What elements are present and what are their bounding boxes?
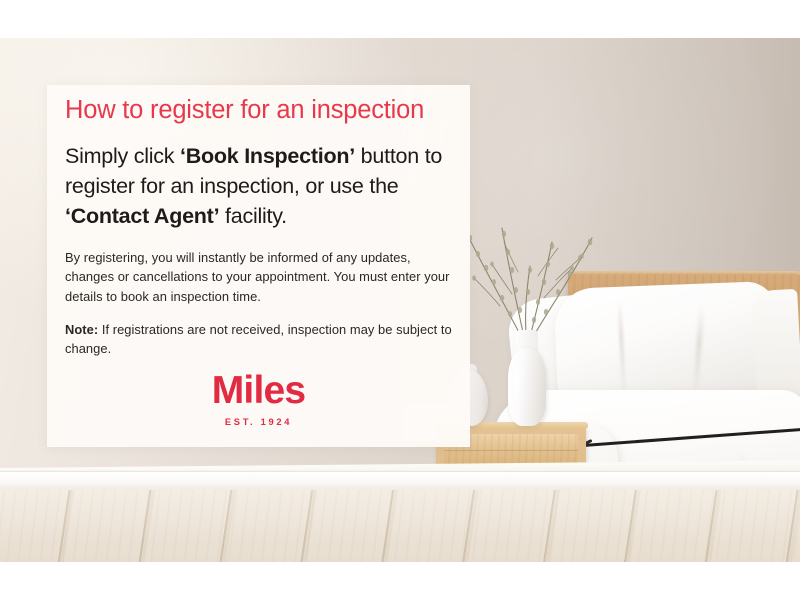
nightstand-drawer-seam [444, 450, 578, 451]
letterbox-top [0, 0, 800, 38]
lede-line1-pre: Simply click [65, 144, 180, 168]
lede-line1-post: button [355, 144, 419, 168]
note-label: Note: [65, 322, 98, 337]
letterbox-bottom [0, 562, 800, 600]
vase-highlight [514, 356, 519, 410]
wood-floor [0, 490, 800, 562]
instructions-lede: Simply click ‘Book Inspection’ button to… [65, 141, 461, 231]
contact-agent-emphasis: ‘Contact Agent’ [65, 204, 219, 228]
registration-details-paragraph: By registering, you will instantly be in… [65, 248, 453, 306]
banner-image: How to register for an inspection Simply… [0, 0, 800, 600]
note-paragraph: Note: If registrations are not received,… [65, 320, 453, 359]
page-title: How to register for an inspection [65, 96, 424, 125]
floor-wood-grain [0, 490, 800, 562]
logo-established-text: EST. 1924 [47, 417, 470, 427]
book-inspection-emphasis: ‘Book Inspection’ [180, 144, 355, 168]
pillow-right [751, 289, 800, 403]
logo-wordmark: Miles [47, 370, 470, 412]
info-panel: How to register for an inspection Simply… [47, 85, 470, 447]
note-text: If registrations are not received, inspe… [65, 322, 452, 356]
lede-line3-post: facility. [219, 204, 287, 228]
brand-logo: Miles EST. 1924 [47, 370, 470, 427]
